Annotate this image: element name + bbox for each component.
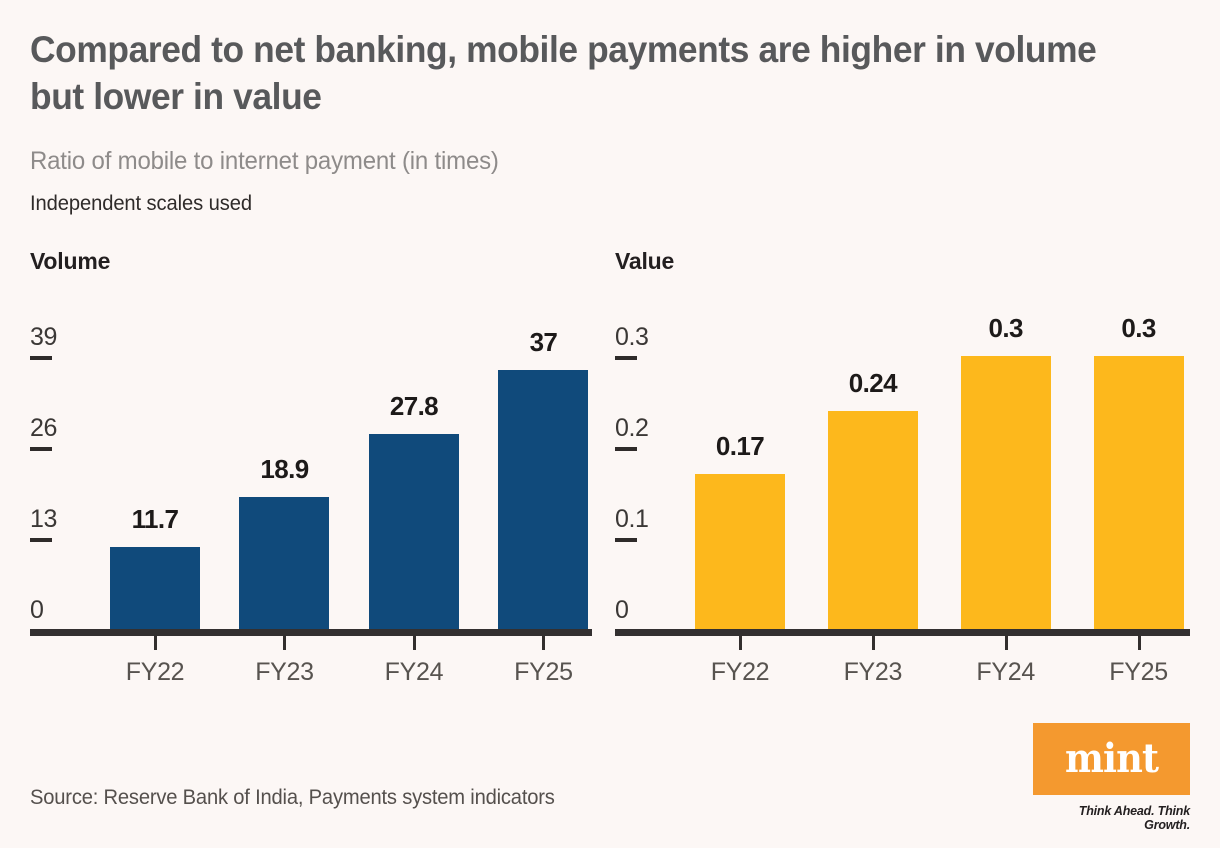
y-tick: 0	[615, 598, 669, 623]
bar[interactable]	[498, 370, 588, 629]
x-axis-label: FY22	[695, 658, 785, 687]
panel-heading-volume: Volume	[30, 248, 592, 280]
bar-value-label: 11.7	[110, 504, 200, 535]
x-tick-mark	[154, 636, 157, 650]
x-tick-mark	[739, 636, 742, 650]
bar-slot: 0.3	[1094, 285, 1184, 629]
mint-tagline: Think Ahead. Think Growth.	[1033, 804, 1190, 832]
bar[interactable]	[695, 474, 785, 629]
bar-value-label: 0.24	[828, 368, 918, 399]
bar-group-value: 0.170.240.30.3	[665, 292, 1190, 629]
x-tick-mark	[542, 636, 545, 650]
y-tick-label: 0	[30, 598, 84, 623]
y-tick: 0	[30, 598, 84, 623]
bar-slot: 0.24	[828, 285, 918, 629]
y-tick: 26	[30, 416, 84, 451]
y-tick-label: 0	[615, 598, 669, 623]
x-axis-label: FY23	[828, 658, 918, 687]
bar-value-label: 0.3	[961, 313, 1051, 344]
bar[interactable]	[961, 356, 1051, 629]
plot-area-volume: 0132639 11.718.927.837 FY22FY23FY24FY25	[30, 292, 592, 636]
x-axis-labels-volume: FY22FY23FY24FY25	[80, 658, 592, 694]
source-note: Source: Reserve Bank of India, Payments …	[30, 786, 555, 810]
y-tick-mark	[30, 538, 52, 542]
bar[interactable]	[369, 434, 459, 629]
bar[interactable]	[1094, 356, 1184, 629]
plot-area-value: 00.10.20.3 0.170.240.30.3 FY22FY23FY24FY…	[615, 292, 1190, 636]
y-tick-mark	[615, 356, 637, 360]
bar[interactable]	[110, 547, 200, 629]
bar-value-label: 0.3	[1094, 313, 1184, 344]
y-tick: 0.3	[615, 325, 669, 360]
bar-slot: 18.9	[239, 285, 329, 629]
y-tick-label: 0.2	[615, 416, 669, 441]
axis-baseline-volume	[30, 629, 592, 636]
x-axis-label: FY24	[961, 658, 1051, 687]
chart-note: Independent scales used	[30, 176, 1144, 216]
mint-logo-box: mint	[1033, 723, 1190, 795]
bar-value-label: 27.8	[369, 391, 459, 422]
bar-value-label: 37	[498, 327, 588, 358]
mint-wordmark: mint	[1065, 739, 1158, 779]
x-tick-mark	[283, 636, 286, 650]
panel-heading-value: Value	[615, 248, 1190, 280]
bar-slot: 11.7	[110, 285, 200, 629]
chart-panel-value: Value 00.10.20.3 0.170.240.30.3 FY22FY23…	[615, 248, 1190, 636]
y-tick: 0.1	[615, 507, 669, 542]
y-tick-label: 26	[30, 416, 84, 441]
y-tick-mark	[615, 447, 637, 451]
x-axis-label: FY23	[239, 658, 329, 687]
y-tick-label: 13	[30, 507, 84, 532]
y-tick: 39	[30, 325, 84, 360]
chart-header: Compared to net banking, mobile payments…	[30, 0, 1190, 216]
x-tick-mark	[872, 636, 875, 650]
bar[interactable]	[828, 411, 918, 629]
bar-slot: 27.8	[369, 285, 459, 629]
y-tick: 13	[30, 507, 84, 542]
x-axis-labels-value: FY22FY23FY24FY25	[665, 658, 1190, 694]
bar-slot: 0.17	[695, 285, 785, 629]
mint-logo: mint Think Ahead. Think Growth.	[1033, 723, 1190, 832]
bar-slot: 0.3	[961, 285, 1051, 629]
x-axis-label: FY22	[110, 658, 200, 687]
y-tick-label: 0.3	[615, 325, 669, 350]
x-axis-label: FY24	[369, 658, 459, 687]
bar-group-volume: 11.718.927.837	[80, 292, 592, 629]
bar-value-label: 18.9	[239, 454, 329, 485]
y-tick: 0.2	[615, 416, 669, 451]
axis-baseline-value	[615, 629, 1190, 636]
x-tick-mark	[1005, 636, 1008, 650]
y-tick-label: 0.1	[615, 507, 669, 532]
x-tick-mark	[1138, 636, 1141, 650]
x-tick-mark	[413, 636, 416, 650]
bar-value-label: 0.17	[695, 431, 785, 462]
y-tick-mark	[30, 356, 52, 360]
chart-subtitle: Ratio of mobile to internet payment (in …	[30, 121, 1144, 176]
x-axis-label: FY25	[498, 658, 588, 687]
x-axis-label: FY25	[1094, 658, 1184, 687]
bar-slot: 37	[498, 285, 588, 629]
y-tick-mark	[615, 538, 637, 542]
chart-panel-volume: Volume 0132639 11.718.927.837 FY22FY23FY…	[30, 248, 592, 636]
page-title: Compared to net banking, mobile payments…	[30, 0, 1104, 121]
y-tick-label: 39	[30, 325, 84, 350]
bar[interactable]	[239, 497, 329, 629]
y-tick-mark	[30, 447, 52, 451]
